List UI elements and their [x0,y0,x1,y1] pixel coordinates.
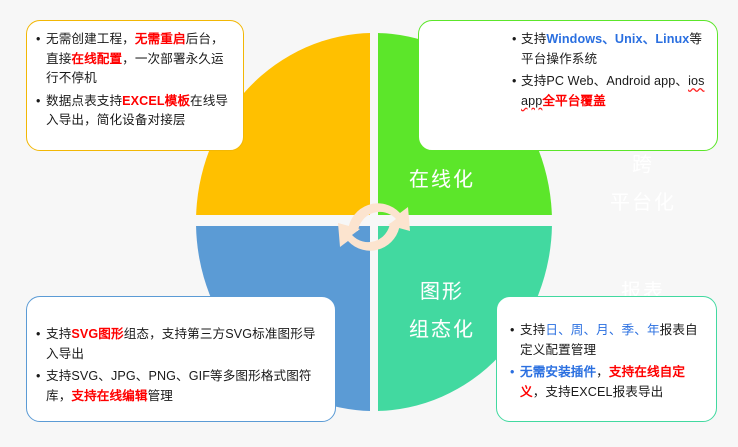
report-feature-list: •支持日、周、月、季、年报表自定义配置管理•无需安装插件，支持在线自定义，支持E… [507,321,708,402]
bullet-icon: • [512,30,517,50]
bullet-icon: • [36,367,41,387]
bullet-icon: • [512,72,517,92]
feature-text-segment: EXCEL模板 [122,94,190,108]
feature-text-segment: 无需创建工程， [46,32,135,46]
feature-list-item: •无需安装插件，支持在线自定义，支持EXCEL报表导出 [507,363,708,402]
feature-text-segment: 无需重启 [135,32,186,46]
feature-text-segment: 全平台覆盖 [542,94,605,108]
quadrant-label-crossplatform-line2: 平台化 [568,189,718,217]
feature-text-segment: SVG图形 [71,327,123,341]
diagram-canvas: 在线化 跨 平台化 图形 组态化 报表 自定义化 •无需创建工程，无需重启后台，… [0,0,738,447]
report-feature-box: •支持日、周、月、季、年报表自定义配置管理•无需安装插件，支持在线自定义，支持E… [496,296,717,422]
quadrant-label-crossplatform-line1: 跨 [568,151,718,179]
feature-text-segment: ， [596,365,609,379]
crossplatform-feature-list: •支持Windows、Unix、Linux等平台操作系统•支持PC Web、An… [509,30,709,111]
feature-text-segment: 无需安装插件 [520,365,596,379]
feature-list-item: •无需创建工程，无需重启后台，直接在线配置，一次部署永久运行不停机 [33,30,235,89]
bullet-icon: • [510,321,515,341]
feature-list-item: •支持日、周、月、季、年报表自定义配置管理 [507,321,708,360]
feature-text-segment: 数据点表支持 [46,94,122,108]
feature-text-segment: 支持在线编辑 [71,389,147,403]
feature-text-segment: 支持PC Web、Android app、 [521,74,688,88]
feature-text-segment: ，支持EXCEL报表导出 [533,385,664,399]
feature-text-segment: 在线配置 [71,52,122,66]
feature-list-item: •支持SVG、JPG、PNG、GIF等多图形格式图符库，支持在线编辑管理 [33,367,327,406]
graphics-feature-list: •支持SVG图形组态，支持第三方SVG标准图形导入导出•支持SVG、JPG、PN… [33,325,327,406]
feature-list-item: •数据点表支持EXCEL模板在线导入导出，简化设备对接层 [33,92,235,131]
feature-text-segment: 支持 [521,32,546,46]
graphics-feature-box: •支持SVG图形组态，支持第三方SVG标准图形导入导出•支持SVG、JPG、PN… [26,296,336,422]
feature-text-segment: Windows、Unix、Linux [546,32,689,46]
feature-text-segment: 日、周、月、季、年 [545,323,659,337]
online-feature-list: •无需创建工程，无需重启后台，直接在线配置，一次部署永久运行不停机•数据点表支持… [33,30,235,131]
bullet-icon: • [36,325,41,345]
online-feature-box: •无需创建工程，无需重启后台，直接在线配置，一次部署永久运行不停机•数据点表支持… [26,20,244,151]
feature-list-item: •支持Windows、Unix、Linux等平台操作系统 [509,30,709,69]
crossplatform-feature-box: •支持Windows、Unix、Linux等平台操作系统•支持PC Web、An… [418,20,718,151]
quadrant-label-crossplatform: 跨 平台化 [568,151,718,217]
feature-text-segment: 支持 [520,323,545,337]
feature-text-segment: 支持 [46,327,71,341]
bullet-icon: • [510,363,515,383]
feature-list-item: •支持SVG图形组态，支持第三方SVG标准图形导入导出 [33,325,327,364]
bullet-icon: • [36,92,41,112]
feature-list-item: •支持PC Web、Android app、ios app全平台覆盖 [509,72,709,111]
bullet-icon: • [36,30,41,50]
feature-text-segment: 管理 [148,389,173,403]
